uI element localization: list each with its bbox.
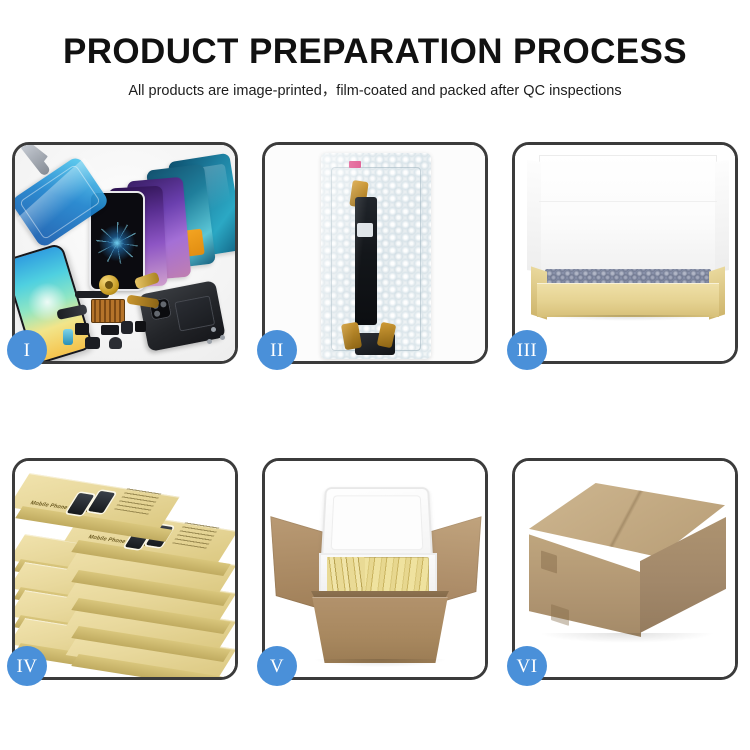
step-5-image <box>265 461 485 677</box>
inner-box-illustration <box>515 145 735 361</box>
phone-back-housing <box>138 280 226 352</box>
bubble-wrap-illustration <box>265 145 485 361</box>
yellow-boxes-inside <box>327 557 429 595</box>
screen-burst-graphic <box>96 222 138 264</box>
lid-crease <box>539 201 717 202</box>
step-6-image <box>515 461 735 677</box>
page-subtitle: All products are image-printed，film-coat… <box>0 81 750 101</box>
process-step-panel-3[interactable]: III <box>512 142 738 364</box>
step-4-image: Mobile Phone Spare Parts Mobile Phone Sp… <box>15 461 235 677</box>
step-badge-5: V <box>257 646 297 686</box>
product-preparation-infographic: PRODUCT PREPARATION PROCESS All products… <box>0 0 750 750</box>
phone-parts-illustration <box>15 145 235 361</box>
foam-box-illustration <box>265 461 485 677</box>
page-title: PRODUCT PREPARATION PROCESS <box>0 32 750 72</box>
lid-flap-left <box>527 160 541 272</box>
step-badge-4: IV <box>7 646 47 686</box>
carton-front-wall <box>303 597 457 663</box>
part-screw-2 <box>220 335 225 340</box>
step-badge-3: III <box>507 330 547 370</box>
header: PRODUCT PREPARATION PROCESS All products… <box>0 32 750 101</box>
tray-drop-shadow <box>541 315 717 321</box>
battery-part <box>174 295 215 331</box>
part-chip-grid <box>91 299 125 323</box>
part-ic-4 <box>135 321 146 332</box>
part-ic-6 <box>85 337 100 349</box>
process-step-panel-1[interactable]: I <box>12 142 238 364</box>
carton-drop-shadow <box>315 659 445 667</box>
step-3-image <box>515 145 735 361</box>
step-1-image <box>15 145 235 361</box>
inner-box-kraft-tray <box>531 267 725 319</box>
part-ic-5 <box>63 329 73 345</box>
tray-front-wall <box>537 283 719 317</box>
process-step-panel-5[interactable]: V <box>262 458 488 680</box>
part-screw-1 <box>211 327 216 332</box>
part-gold-disc <box>99 275 119 295</box>
retail-box-printed-back: Mobile Phone Spare Parts <box>19 485 169 519</box>
part-screw-3 <box>207 339 212 344</box>
part-ic-1 <box>75 323 89 335</box>
part-ic-7 <box>109 337 122 349</box>
phone-notch-icon <box>107 195 127 200</box>
step-badge-6: VI <box>507 646 547 686</box>
shipping-carton-illustration <box>515 461 735 677</box>
step-2-image <box>265 145 485 361</box>
retail-box-stack-illustration: Mobile Phone Spare Parts Mobile Phone Sp… <box>15 461 235 677</box>
bubble-wrap-sleeve <box>321 153 431 359</box>
process-step-panel-4[interactable]: Mobile Phone Spare Parts Mobile Phone Sp… <box>12 458 238 680</box>
process-step-panel-2[interactable]: II <box>262 142 488 364</box>
pry-tool-icon <box>19 145 52 177</box>
foam-box-lid <box>321 487 433 559</box>
process-step-grid: I II <box>12 142 738 676</box>
part-ic-2 <box>101 325 119 335</box>
inner-box-white-lid <box>539 155 717 277</box>
part-ic-3 <box>121 321 133 334</box>
step-badge-1: I <box>7 330 47 370</box>
process-step-panel-6[interactable]: VI <box>512 458 738 680</box>
lid-flap-right <box>715 160 729 272</box>
shipping-box-drop-shadow <box>539 633 715 643</box>
step-badge-2: II <box>257 330 297 370</box>
